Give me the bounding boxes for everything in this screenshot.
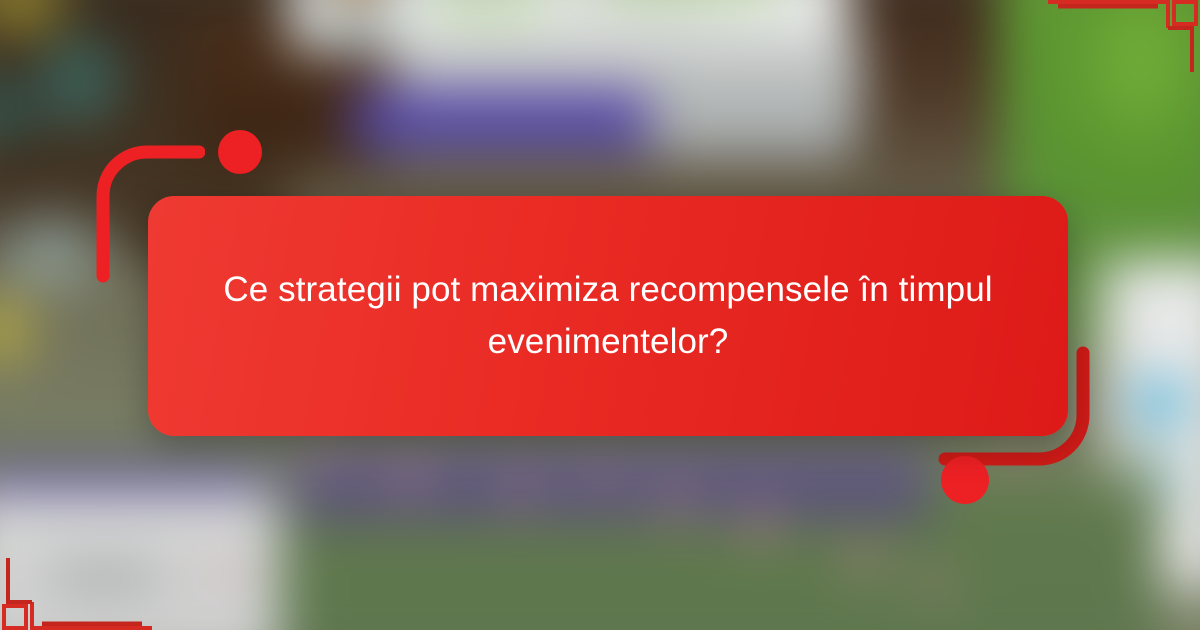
background-flower	[312, 448, 340, 470]
background-flower	[660, 490, 694, 516]
background-text-line	[560, 0, 710, 12]
question-card: Ce strategii pot maximiza recompensele î…	[148, 196, 1068, 436]
background-flower	[588, 472, 614, 492]
background-flower	[845, 545, 881, 573]
background-blue-icon	[1135, 378, 1185, 426]
background-flower	[210, 560, 240, 582]
background-flower	[740, 508, 780, 538]
accent-dot-top-left	[218, 130, 262, 174]
background-highlight-line	[430, 0, 550, 12]
question-text: Ce strategii pot maximiza recompensele î…	[218, 264, 998, 369]
background-flower	[392, 465, 426, 491]
background-flower	[920, 572, 950, 596]
accent-dot-bottom-right	[941, 456, 989, 504]
background-flower	[505, 480, 535, 504]
background-laptop-keyboard	[350, 90, 650, 150]
corner-frame-bottom-left-icon	[0, 558, 160, 630]
corner-frame-top-right-icon	[1040, 0, 1200, 72]
